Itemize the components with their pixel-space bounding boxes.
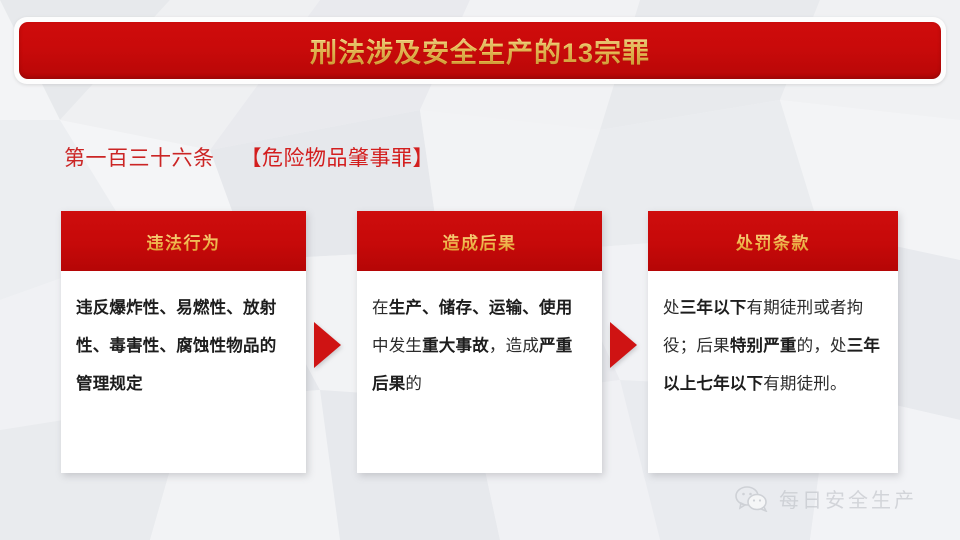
card-penalty-clause: 处罚条款 处三年以下有期徒刑或者拘役；后果特别严重的，处三年以上七年以下有期徒刑… — [648, 211, 898, 473]
card-header-label: 违法行为 — [147, 229, 221, 254]
watermark: 每日安全生产 — [735, 484, 917, 513]
card-header-resulting-consequence: 造成后果 — [357, 211, 602, 271]
crime-name: 【危险物品肇事罪】 — [241, 147, 435, 170]
wechat-icon — [735, 486, 769, 512]
card-body-illegal-conduct: 违反爆炸性、易燃性、放射性、毒害性、腐蚀性物品的管理规定 — [61, 271, 306, 413]
card-body-penalty-clause: 处三年以下有期徒刑或者拘役；后果特别严重的，处三年以上七年以下有期徒刑。 — [648, 271, 898, 413]
card-header-label: 处罚条款 — [736, 229, 810, 254]
watermark-label: 每日安全生产 — [779, 484, 917, 513]
triangle-right-icon — [314, 322, 341, 368]
card-illegal-conduct: 违法行为 违反爆炸性、易燃性、放射性、毒害性、腐蚀性物品的管理规定 — [61, 211, 306, 473]
card-resulting-consequence: 造成后果 在生产、储存、运输、使用中发生重大事故，造成严重后果的 — [357, 211, 602, 473]
title-banner: 刑法涉及安全生产的13宗罪 — [14, 17, 946, 84]
triangle-right-icon — [610, 322, 637, 368]
card-header-illegal-conduct: 违法行为 — [61, 211, 306, 271]
slide-canvas: 刑法涉及安全生产的13宗罪 第一百三十六条【危险物品肇事罪】 违法行为 违反爆炸… — [0, 0, 960, 540]
card-header-penalty-clause: 处罚条款 — [648, 211, 898, 271]
card-header-label: 造成后果 — [443, 229, 517, 254]
article-subtitle: 第一百三十六条【危险物品肇事罪】 — [64, 142, 434, 172]
card-body-resulting-consequence: 在生产、储存、运输、使用中发生重大事故，造成严重后果的 — [357, 271, 602, 413]
title-banner-inner: 刑法涉及安全生产的13宗罪 — [19, 22, 941, 79]
page-title: 刑法涉及安全生产的13宗罪 — [310, 31, 650, 70]
article-number: 第一百三十六条 — [64, 147, 215, 170]
